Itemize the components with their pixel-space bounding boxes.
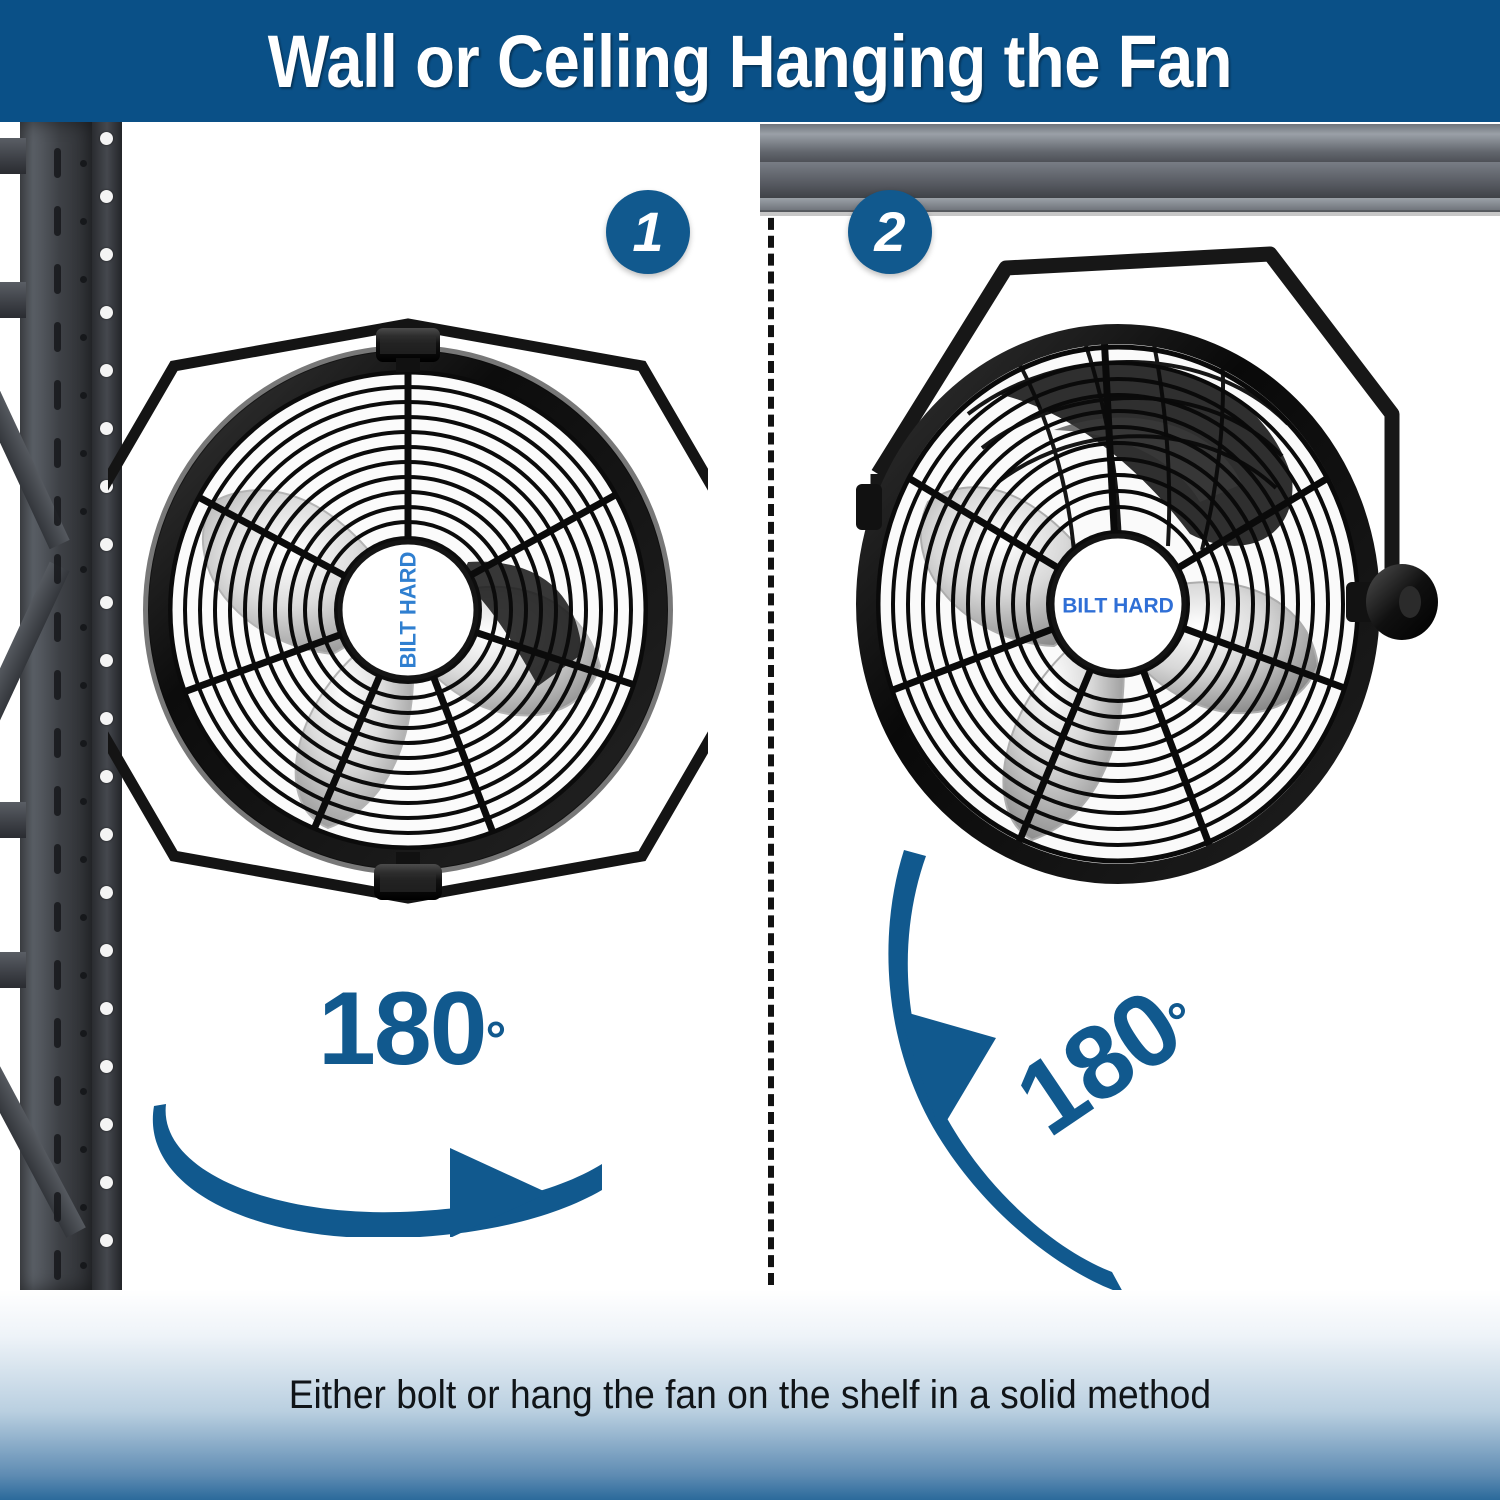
rack-slot: [54, 670, 61, 700]
rack-slot: [54, 380, 61, 410]
rack-hole: [100, 190, 113, 203]
rack-dot: [80, 566, 87, 573]
rack-slot: [54, 902, 61, 932]
rack-column: [20, 122, 92, 1290]
rack-dot: [80, 624, 87, 631]
rack-cross-beam: [0, 282, 26, 318]
rack-dot: [80, 856, 87, 863]
page-title: Wall or Ceiling Hanging the Fan: [268, 19, 1232, 104]
rack-dot: [80, 508, 87, 515]
beam-top-face: [760, 124, 1500, 164]
fan-assembly-ceiling-hung: BILT HARD: [818, 234, 1458, 934]
rack-slot: [54, 496, 61, 526]
rack-hole: [100, 1176, 113, 1189]
rack-slot: [54, 786, 61, 816]
rack-dot: [80, 1204, 87, 1211]
rack-dot: [80, 218, 87, 225]
rotation-value-1: 180: [318, 971, 486, 1087]
rack-slot: [54, 554, 61, 584]
step-badge-1: 1: [606, 190, 690, 274]
fan-1-graphic: BILT HARD: [108, 262, 708, 962]
rack-hole: [100, 1234, 113, 1247]
fan-2-brand-label: BILT HARD: [1062, 595, 1174, 618]
fan-2-hub: BILT HARD: [1052, 536, 1184, 672]
rack-dot: [80, 1030, 87, 1037]
rack-dot: [80, 682, 87, 689]
step-badge-1-number: 1: [632, 204, 663, 260]
rack-dot: [80, 914, 87, 921]
rack-hole: [100, 1060, 113, 1073]
rack-dot: [80, 798, 87, 805]
illustration-stage: BILT HARD: [0, 122, 1500, 1290]
rotation-label-1: 180°: [318, 977, 506, 1081]
rack-hole: [100, 1002, 113, 1015]
rack-cross-beam: [0, 138, 26, 174]
rack-dot: [80, 972, 87, 979]
rack-cross-beam: [0, 802, 26, 838]
step-badge-2: 2: [848, 190, 932, 274]
rack-dot: [80, 276, 87, 283]
rack-slot: [54, 1076, 61, 1106]
rack-dot: [80, 334, 87, 341]
rack-hole: [100, 248, 113, 261]
rack-dot: [80, 1262, 87, 1269]
rack-hole: [100, 1118, 113, 1131]
step-badge-2-number: 2: [874, 204, 905, 260]
fan-assembly-wall-mounted: BILT HARD: [108, 262, 708, 952]
rack-dot: [80, 1088, 87, 1095]
rack-dot: [80, 1146, 87, 1153]
rack-slot: [54, 960, 61, 990]
rack-slot: [54, 322, 61, 352]
rack-slot: [54, 206, 61, 236]
rack-slot: [54, 1250, 61, 1280]
rack-slot: [54, 1018, 61, 1048]
rack-dot: [80, 740, 87, 747]
rack-dot: [80, 160, 87, 167]
rack-hole: [100, 132, 113, 145]
rack-slot: [54, 148, 61, 178]
rack-slot: [54, 612, 61, 642]
rack-dot: [80, 450, 87, 457]
rack-slot: [54, 1192, 61, 1222]
footer-banner: Either bolt or hang the fan on the shelf…: [0, 1290, 1500, 1500]
rack-slot: [54, 844, 61, 874]
rack-cross-beam: [0, 952, 26, 988]
infographic-page: Wall or Ceiling Hanging the Fan: [0, 0, 1500, 1500]
rack-slot: [54, 1134, 61, 1164]
fan-1-brand-label: BILT HARD: [396, 552, 421, 669]
footer-caption: Either bolt or hang the fan on the shelf…: [289, 1373, 1211, 1418]
rack-slot: [54, 264, 61, 294]
rack-slot: [54, 728, 61, 758]
rack-slot: [54, 438, 61, 468]
degree-symbol-1: °: [486, 1012, 507, 1070]
header-banner: Wall or Ceiling Hanging the Fan: [0, 0, 1500, 122]
rack-dot: [80, 392, 87, 399]
fan-2-left-pivot: [856, 484, 882, 530]
fan-2-graphic: BILT HARD: [818, 234, 1458, 934]
panel-divider: [768, 200, 774, 1285]
fan-1-hub: BILT HARD: [340, 542, 476, 678]
